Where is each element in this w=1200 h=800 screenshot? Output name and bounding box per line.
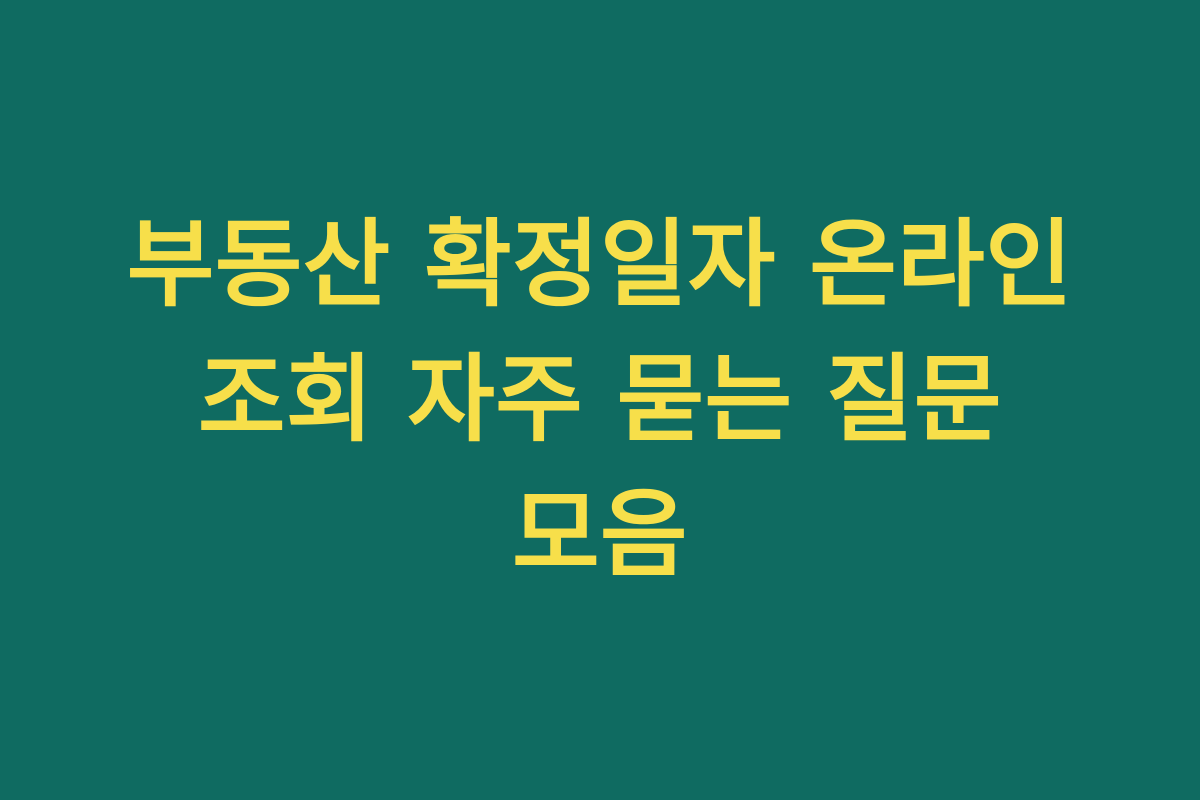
page-title: 부동산 확정일자 온라인 조회 자주 묻는 질문 모음: [95, 198, 1105, 603]
title-banner: 부동산 확정일자 온라인 조회 자주 묻는 질문 모음: [0, 0, 1200, 800]
